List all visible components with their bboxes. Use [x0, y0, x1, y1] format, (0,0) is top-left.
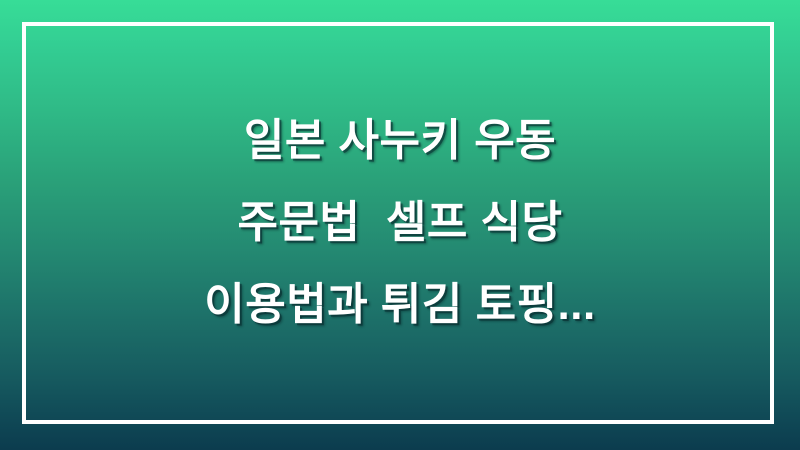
title-line-2: 주문법 셀프 식당	[0, 182, 800, 264]
title-line-1: 일본 사누키 우동	[0, 100, 800, 182]
title-line-3: 이용법과 튀김 토핑...	[0, 264, 800, 346]
thumbnail-card: 일본 사누키 우동 주문법 셀프 식당 이용법과 튀김 토핑...	[0, 0, 800, 450]
title-block: 일본 사누키 우동 주문법 셀프 식당 이용법과 튀김 토핑...	[0, 0, 800, 450]
